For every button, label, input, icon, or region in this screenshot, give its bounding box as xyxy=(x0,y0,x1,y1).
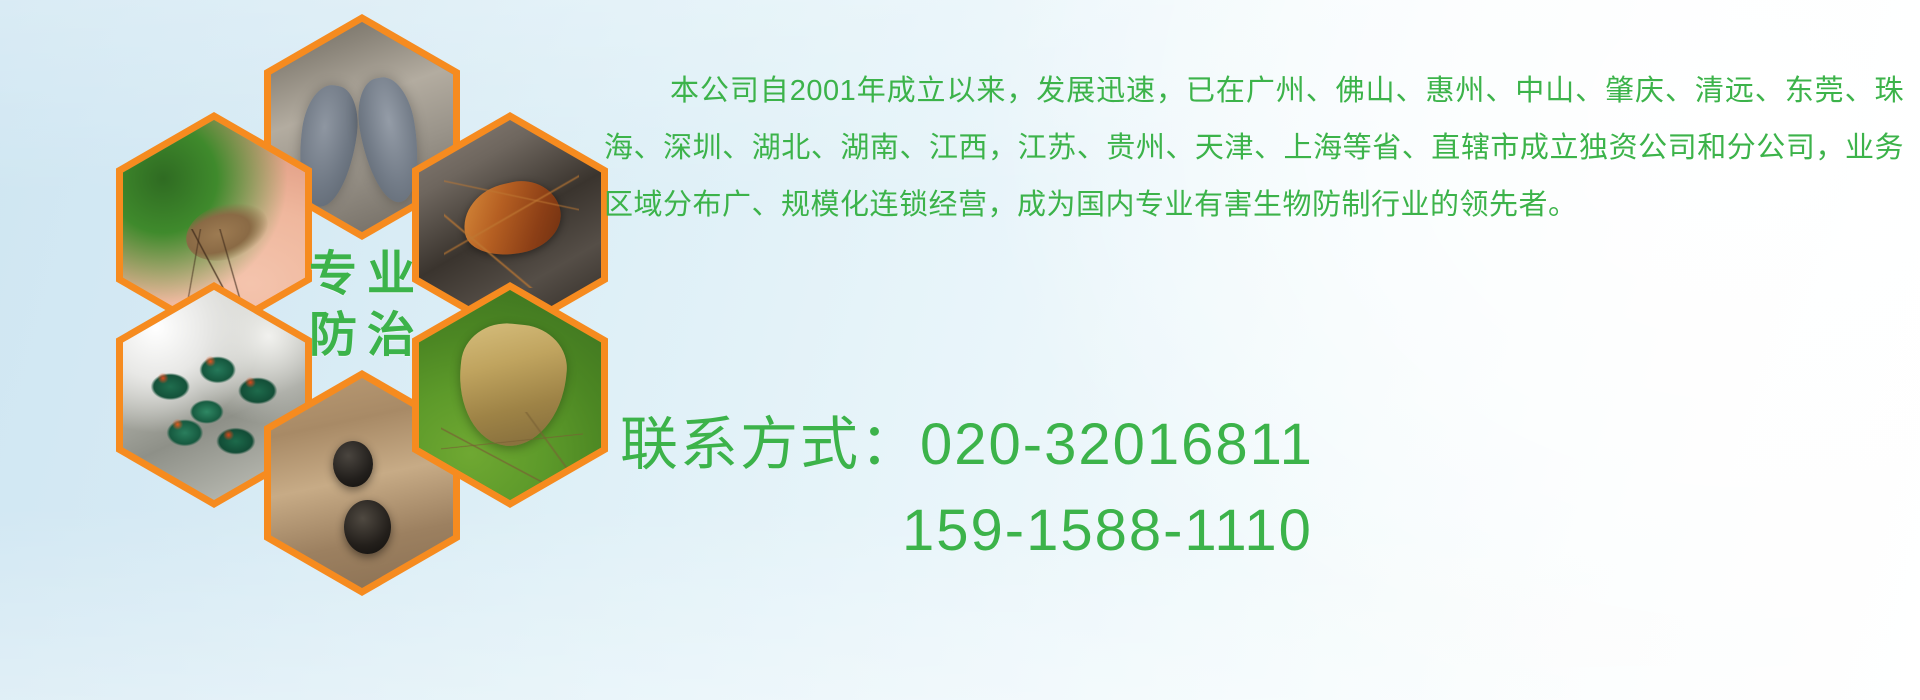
slogan-line-1: 专业 xyxy=(299,244,425,305)
hex-center-slogan-frame: 专业 防治 xyxy=(271,200,453,410)
honeycomb-photo-cluster: 专业 防治 xyxy=(78,8,598,568)
contact-line-secondary[interactable]: 159-1588-1110 xyxy=(620,488,1920,574)
promo-banner: 专业 防治 本公司自2001年成立以来，发展迅速，已在广州、佛山、惠州、中山、肇… xyxy=(0,0,1920,700)
intro-paragraph: 本公司自2001年成立以来，发展迅速，已在广州、佛山、惠州、中山、肇庆、清远、东… xyxy=(604,63,1904,234)
slogan-line-2: 防治 xyxy=(299,305,425,366)
contact-block: 联系方式：020-32016811 159-1588-1110 xyxy=(620,402,1920,574)
intro-copy-block: 本公司自2001年成立以来，发展迅速，已在广州、佛山、惠州、中山、肇庆、清远、东… xyxy=(604,34,1904,263)
contact-line-primary[interactable]: 联系方式：020-32016811 xyxy=(620,402,1920,488)
